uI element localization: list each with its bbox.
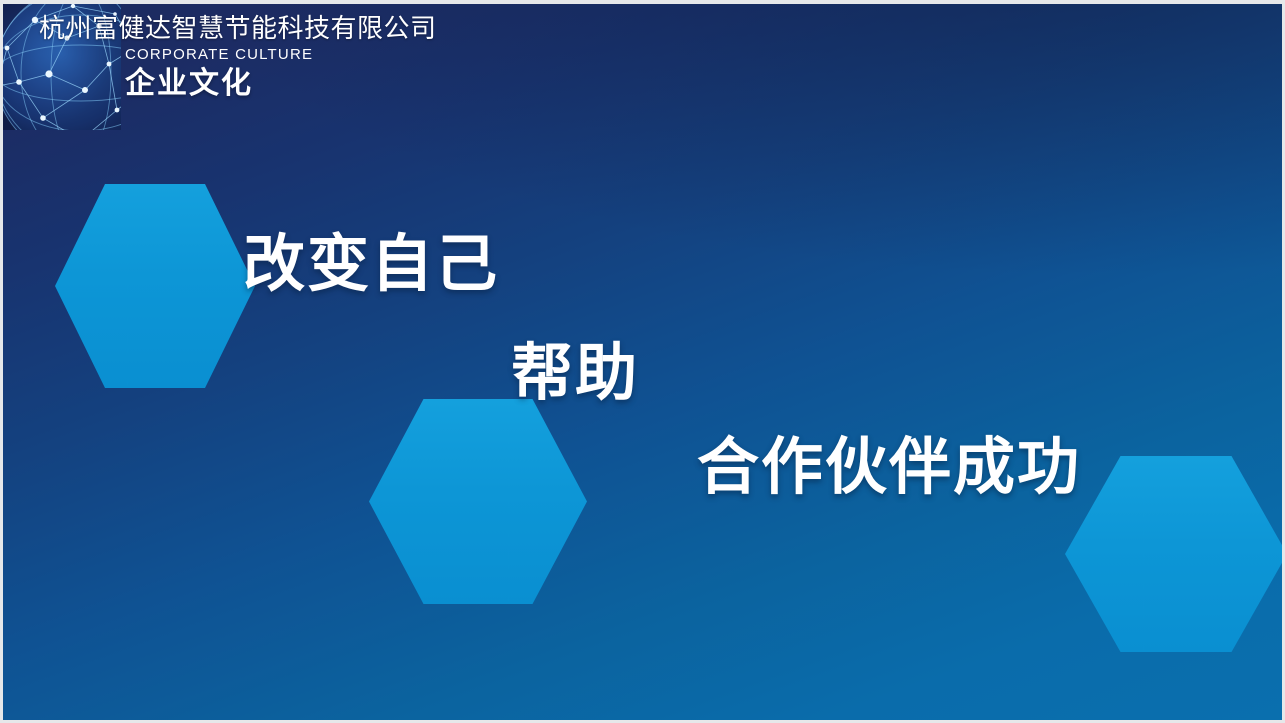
headline-phrase-3: 合作伙伴成功	[697, 435, 1081, 501]
hexagon-shape-2	[369, 399, 587, 604]
hexagon-shape-1	[55, 184, 255, 388]
headline-phrase-1: 改变自己	[243, 232, 499, 298]
presentation-slide: 杭州富健达智慧节能科技有限公司 CORPORATE CULTURE 企业文化 改…	[0, 0, 1285, 723]
slide-header: 杭州富健达智慧节能科技有限公司 CORPORATE CULTURE 企业文化	[39, 12, 437, 102]
hexagon-shape-3	[1065, 456, 1282, 652]
section-subtitle-english: CORPORATE CULTURE	[125, 45, 437, 64]
company-name: 杭州富健达智慧节能科技有限公司	[39, 12, 437, 44]
headline-phrase-2: 帮助	[511, 341, 639, 407]
section-title-chinese: 企业文化	[125, 66, 437, 102]
slide-canvas: 杭州富健达智慧节能科技有限公司 CORPORATE CULTURE 企业文化 改…	[3, 4, 1282, 720]
